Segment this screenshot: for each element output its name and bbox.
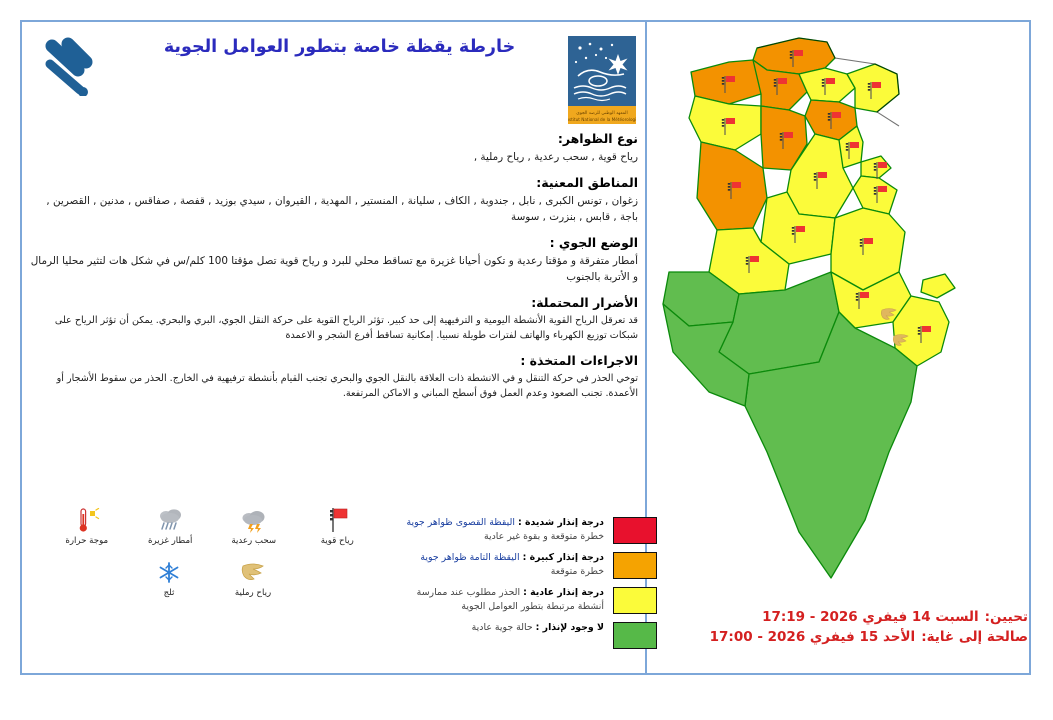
alert-row-severe: درجة إنذار شديدة : اليقظة القصوى ظواهر ج… [382, 516, 657, 544]
valid-value: الأحد 15 فيفري 2026 - 17:00 [710, 628, 916, 648]
legend-label: ثلج [134, 588, 204, 598]
legend-item-thunderstorm: سحب رعدية [219, 504, 289, 546]
section-text: أمطار متفرقة و مؤقتا رعدية و تكون أحيانا… [30, 253, 638, 285]
logo-caption-ar: المعهد الوطني للرصد الجوي [576, 111, 627, 116]
section-heading: المناطق المعنية: [30, 174, 638, 193]
section-heading: الوضع الجوي : [30, 234, 638, 253]
alert-description: درجة إنذار شديدة : اليقظة القصوى ظواهر ج… [382, 516, 604, 543]
sand-wind-icon [218, 556, 288, 586]
valid-label: صالحة إلى غاية: [921, 628, 1028, 648]
page-title: خارطة يقظة خاصة بتطور العوامل الجوية [142, 36, 537, 60]
section-text: زغوان , تونس الكبرى , نابل , جندوبة , ال… [30, 193, 638, 225]
section-heading: نوع الظواهر: [30, 130, 638, 149]
section-weather-situation: الوضع الجوي : أمطار متفرقة و مؤقتا رعدية… [30, 234, 638, 285]
legend-item-heavy-rain: أمطار غزيرة [136, 504, 206, 546]
section-text: رياح قوية , سحب رعدية , رياح رملية , [30, 149, 638, 165]
section-heading: الأضرار المحتملة: [30, 294, 638, 313]
alert-desc-main: الحذر مطلوب عند ممارسة [417, 587, 520, 598]
alert-level-legend: درجة إنذار شديدة : اليقظة القصوى ظواهر ج… [382, 516, 657, 656]
update-label: تحيين: [985, 608, 1028, 628]
brand-mark-icon [38, 34, 112, 96]
heavy-rain-icon [136, 504, 206, 534]
section-potential-damage: الأضرار المحتملة: قد تعرقل الرياح القوية… [30, 294, 638, 343]
alert-row-major: درجة إنذار كبيرة : اليقظة التامة ظواهر ج… [382, 551, 657, 579]
section-text: قد تعرقل الرياح القوية الأنشطة اليومية و… [30, 313, 638, 344]
legend-item-heat-wave: موجة حرارة [52, 504, 122, 546]
alert-description: لا وجود لإنذار : حالة جوية عادية [382, 621, 604, 635]
validity-block: تحيين: السبت 14 فيفري 2026 - 17:19 صالحة… [660, 608, 1028, 647]
alert-title: درجة إنذار شديدة : [518, 517, 604, 528]
legend-label: سحب رعدية [219, 536, 289, 546]
update-value: السبت 14 فيفري 2026 - 17:19 [762, 608, 979, 628]
alert-desc-sub: خطرة متوقعة و بقوة غير عادية [484, 531, 604, 542]
map-svg [649, 22, 1029, 622]
alert-row-none: لا وجود لإنذار : حالة جوية عادية [382, 621, 657, 649]
section-measures-taken: الاجراءات المتخذة : توخي الحذر في حركة ا… [30, 352, 638, 401]
section-phenomena-type: نوع الظواهر: رياح قوية , سحب رعدية , ريا… [30, 130, 638, 165]
alert-description: درجة إنذار عادية : الحذر مطلوب عند ممارس… [382, 586, 604, 613]
alert-desc-sub: أنشطة مرتبطة بتطور العوامل الجوية [461, 601, 604, 612]
gov-djerba [921, 274, 955, 298]
strong-wind-icon [303, 504, 373, 534]
logo-caption-fr: Institut National de la Météorologie [568, 117, 636, 122]
legend-item-sand-wind: رياح رملية [218, 556, 288, 598]
legend-label: أمطار غزيرة [136, 536, 206, 546]
vigilance-map-document: خارطة يقظة خاصة بتطور العوامل الجوية الم… [0, 0, 1053, 720]
thunderstorm-cloud-icon [219, 504, 289, 534]
tunisia-vigilance-map [649, 22, 1029, 673]
snow-icon [134, 556, 204, 586]
alert-title: درجة إنذار كبيرة : [523, 552, 604, 563]
alert-description: درجة إنذار كبيرة : اليقظة التامة ظواهر ج… [382, 551, 604, 578]
legend-label: موجة حرارة [52, 536, 122, 546]
legend-item-snow: ثلج [134, 556, 204, 598]
bulletin-body: نوع الظواهر: رياح قوية , سحب رعدية , ريا… [30, 130, 638, 411]
phenomena-legend-row-2: رياح رملية [52, 556, 372, 598]
gov-tunis [799, 68, 855, 102]
alert-row-normal: درجة إنذار عادية : الحذر مطلوب عند ممارس… [382, 586, 657, 614]
section-affected-regions: المناطق المعنية: زغوان , تونس الكبرى , ن… [30, 174, 638, 225]
alert-title: لا وجود لإنذار : [536, 622, 604, 633]
alert-desc-main: حالة جوية عادية [472, 622, 533, 633]
inm-logo-icon: المعهد الوطني للرصد الجوي Institut Natio… [568, 36, 636, 124]
heat-wave-icon [52, 504, 122, 534]
phenomena-legend: رياح قوية سحب رعدية [52, 504, 372, 598]
alert-title: درجة إنذار عادية : [523, 587, 604, 598]
update-row: تحيين: السبت 14 فيفري 2026 - 17:19 [660, 608, 1028, 628]
alert-desc-sub: خطرة متوقعة [551, 566, 604, 577]
section-heading: الاجراءات المتخذة : [30, 352, 638, 371]
legend-label: رياح رملية [218, 588, 288, 598]
info-panel: خارطة يقظة خاصة بتطور العوامل الجوية الم… [22, 22, 645, 673]
legend-item-strong-wind: رياح قوية [303, 504, 373, 546]
alert-desc-main: اليقظة القصوى ظواهر جوية [406, 517, 515, 528]
valid-until-row: صالحة إلى غاية: الأحد 15 فيفري 2026 - 17… [660, 628, 1028, 648]
gov-mahdia [853, 176, 897, 214]
phenomena-legend-row-1: رياح قوية سحب رعدية [52, 504, 372, 546]
legend-label: رياح قوية [303, 536, 373, 546]
section-text: توخي الحذر في حركة التنقل و في الانشطة ذ… [30, 371, 638, 402]
alert-desc-main: اليقظة التامة ظواهر جوية [420, 552, 519, 563]
